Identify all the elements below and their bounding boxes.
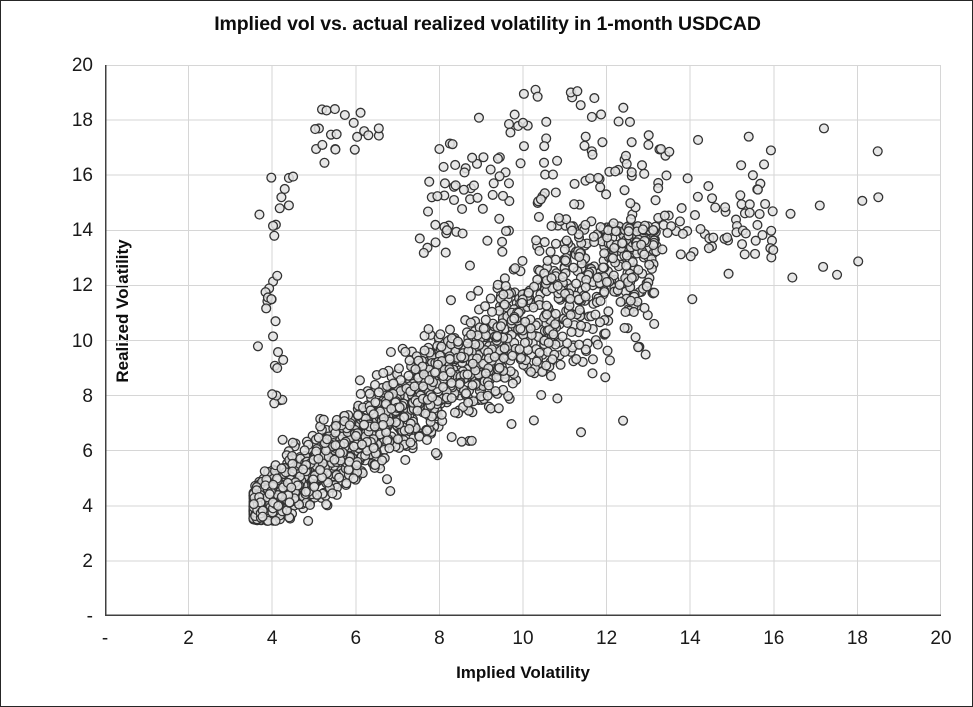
scatter-point (737, 200, 746, 209)
scatter-point (561, 256, 570, 265)
scatter-point (441, 179, 450, 188)
x-tick-label: 2 (159, 629, 219, 648)
scatter-point (704, 182, 713, 191)
scatter-point (488, 307, 497, 316)
scatter-point (597, 110, 606, 119)
scatter-point (616, 298, 625, 307)
scatter-point (549, 170, 558, 179)
scatter-point (556, 360, 565, 369)
scatter-point (488, 191, 497, 200)
scatter-point (431, 449, 440, 458)
scatter-point (741, 229, 750, 238)
scatter-point (815, 201, 824, 210)
scatter-point (644, 140, 653, 149)
scatter-point (431, 368, 440, 377)
scatter-point (603, 346, 612, 355)
scatter-point (854, 257, 863, 266)
scatter-point (751, 249, 760, 258)
scatter-point (619, 103, 628, 112)
scatter-point (457, 352, 466, 361)
scatter-point (435, 145, 444, 154)
scatter-point (249, 500, 258, 509)
scatter-point (547, 372, 556, 381)
scatter-point (425, 177, 434, 186)
scatter-point (299, 465, 308, 474)
scatter-point (459, 185, 468, 194)
scatter-point (448, 140, 457, 149)
scatter-point (723, 233, 732, 242)
scatter-point (626, 118, 635, 127)
scatter-point (511, 264, 520, 273)
scatter-point (711, 203, 720, 212)
scatter-point (767, 146, 776, 155)
scatter-point (349, 118, 358, 127)
scatter-point (352, 432, 361, 441)
scatter-point (543, 256, 552, 265)
scatter-point (424, 207, 433, 216)
scatter-point (515, 345, 524, 354)
scatter-point (637, 240, 646, 249)
scatter-point (490, 352, 499, 361)
scatter-point (622, 151, 631, 160)
scatter-point (262, 304, 271, 313)
scatter-point (436, 330, 445, 339)
scatter-point (401, 347, 410, 356)
y-tick-label: 12 (9, 276, 93, 295)
scatter-point (479, 324, 488, 333)
scatter-point (527, 368, 536, 377)
scatter-point (356, 390, 365, 399)
scatter-point (588, 369, 597, 378)
scatter-point (506, 128, 515, 137)
scatter-point (577, 321, 586, 330)
scatter-point (709, 233, 718, 242)
scatter-point (379, 369, 388, 378)
scatter-point (406, 438, 415, 447)
scatter-point (437, 410, 446, 419)
scatter-point (310, 482, 319, 491)
scatter-point (254, 342, 263, 351)
y-tick-label: - (9, 607, 93, 626)
scatter-point (642, 282, 651, 291)
scatter-point (345, 421, 354, 430)
scatter-point (694, 136, 703, 145)
scatter-point (437, 342, 446, 351)
scatter-point (278, 492, 287, 501)
scatter-point (314, 454, 323, 463)
scatter-point (588, 150, 597, 159)
scatter-point (400, 413, 409, 422)
scatter-point (318, 140, 327, 149)
scatter-point (255, 210, 264, 219)
scatter-point (365, 389, 374, 398)
scatter-point (267, 295, 276, 304)
y-tick-label: 2 (9, 552, 93, 571)
scatter-point (593, 340, 602, 349)
scatter-point (740, 250, 749, 259)
scatter-point (445, 355, 454, 364)
scatter-point (495, 172, 504, 181)
scatter-point (749, 171, 758, 180)
scatter-point (548, 355, 557, 364)
scatter-point (349, 474, 358, 483)
scatter-point (833, 270, 842, 279)
scatter-point (542, 301, 551, 310)
scatter-point (498, 237, 507, 246)
x-axis-title: Implied Volatility (105, 663, 941, 683)
scatter-point (508, 351, 517, 360)
scatter-point (352, 461, 361, 470)
scatter-point (499, 290, 508, 299)
scatter-point (662, 171, 671, 180)
scatter-point (428, 393, 437, 402)
scatter-point (745, 208, 754, 217)
scatter-point (560, 245, 569, 254)
scatter-point (494, 404, 503, 413)
scatter-point (460, 168, 469, 177)
scatter-point (598, 138, 607, 147)
scatter-point (621, 308, 630, 317)
scatter-point (755, 210, 764, 219)
scatter-point (549, 330, 558, 339)
scatter-point (562, 236, 571, 245)
scatter-point (610, 244, 619, 253)
scatter-point (553, 394, 562, 403)
scatter-point (510, 110, 519, 119)
scatter-point (520, 89, 529, 98)
scatter-point (640, 250, 649, 259)
scatter-point (586, 174, 595, 183)
scatter-point (269, 221, 278, 230)
chart-title: Implied vol vs. actual realized volatili… (1, 13, 973, 36)
scatter-point (328, 489, 337, 498)
scatter-point (268, 390, 277, 399)
scatter-point (499, 191, 508, 200)
scatter-point (288, 438, 297, 447)
scatter-point (524, 288, 533, 297)
scatter-point (555, 214, 564, 223)
scatter-point (274, 348, 283, 357)
scatter-point (640, 304, 649, 313)
scatter-point (466, 318, 475, 327)
scatter-point (508, 379, 517, 388)
scatter-point (332, 422, 341, 431)
scatter-point (499, 354, 508, 363)
scatter-point (596, 297, 605, 306)
scatter-point (260, 467, 269, 476)
scatter-point (553, 156, 562, 165)
scatter-point (611, 167, 620, 176)
scatter-point (518, 257, 527, 266)
scatter-point (620, 324, 629, 333)
scatter-point (638, 161, 647, 170)
scatter-point (387, 348, 396, 357)
scatter-point (462, 389, 471, 398)
scatter-points (105, 65, 941, 616)
scatter-point (433, 192, 442, 201)
scatter-point (657, 145, 666, 154)
scatter-point (389, 379, 398, 388)
scatter-point (431, 238, 440, 247)
scatter-point (492, 373, 501, 382)
scatter-point (738, 240, 747, 249)
scatter-point (411, 365, 420, 374)
scatter-point (609, 254, 618, 263)
y-tick-label: 20 (9, 56, 93, 75)
scatter-point (289, 172, 298, 181)
scatter-point (551, 188, 560, 197)
y-tick-label: 8 (9, 387, 93, 406)
scatter-point (644, 131, 653, 140)
scatter-point (446, 368, 455, 377)
scatter-point (634, 343, 643, 352)
scatter-point (405, 356, 414, 365)
scatter-point (665, 147, 674, 156)
scatter-point (269, 332, 278, 341)
scatter-point (721, 203, 730, 212)
scatter-point (581, 132, 590, 141)
scatter-point (544, 338, 553, 347)
scatter-point (285, 201, 294, 210)
scatter-point (819, 262, 828, 271)
scatter-point (640, 169, 649, 178)
scatter-point (395, 364, 404, 373)
scatter-point (575, 253, 584, 262)
scatter-point (768, 207, 777, 216)
x-tick-label: 14 (660, 629, 720, 648)
scatter-point (306, 501, 315, 510)
y-tick-label: 18 (9, 111, 93, 130)
scatter-point (415, 234, 424, 243)
scatter-point (724, 269, 733, 278)
scatter-point (546, 247, 555, 256)
scatter-point (404, 371, 413, 380)
plot-area (105, 65, 941, 616)
scatter-point (331, 145, 340, 154)
scatter-point (458, 205, 467, 214)
scatter-point (536, 195, 545, 204)
scatter-point (618, 239, 627, 248)
scatter-point (627, 138, 636, 147)
scatter-point (505, 179, 514, 188)
scatter-point (570, 179, 579, 188)
scatter-point (594, 174, 603, 183)
scatter-point (767, 226, 776, 235)
scatter-point (467, 330, 476, 339)
scatter-point (788, 273, 797, 282)
scatter-point (387, 404, 396, 413)
scatter-point (420, 346, 429, 355)
scatter-point (332, 130, 341, 139)
scatter-point (443, 226, 452, 235)
scatter-point (478, 204, 487, 213)
scatter-point (558, 332, 567, 341)
scatter-point (280, 185, 289, 194)
y-tick-label: 10 (9, 332, 93, 351)
scatter-point (378, 456, 387, 465)
scatter-point (540, 142, 549, 151)
y-tick-label: 6 (9, 442, 93, 461)
scatter-point (758, 231, 767, 240)
scatter-point (421, 409, 430, 418)
scatter-point (350, 145, 359, 154)
scatter-point (520, 142, 529, 151)
scatter-point (423, 426, 432, 435)
scatter-point (441, 248, 450, 257)
scatter-point (753, 185, 762, 194)
scatter-point (614, 117, 623, 126)
scatter-point (269, 480, 278, 489)
scatter-point (626, 296, 635, 305)
scatter-point (340, 439, 349, 448)
scatter-point (447, 433, 456, 442)
scatter-point (301, 487, 310, 496)
scatter-point (535, 247, 544, 256)
scatter-point (631, 333, 640, 342)
y-tick-label: 4 (9, 497, 93, 516)
scatter-point (575, 306, 584, 315)
scatter-point (451, 181, 460, 190)
scatter-point (567, 328, 576, 337)
scatter-point (575, 340, 584, 349)
scatter-point (473, 193, 482, 202)
scatter-point (319, 415, 328, 424)
scatter-point (495, 214, 504, 223)
scatter-point (486, 165, 495, 174)
scatter-point (601, 329, 610, 338)
scatter-point (316, 466, 325, 475)
scatter-point (395, 403, 404, 412)
scatter-point (627, 215, 636, 224)
scatter-point (354, 411, 363, 420)
scatter-point (393, 435, 402, 444)
scatter-point (753, 221, 762, 230)
scatter-point (386, 487, 395, 496)
scatter-point (500, 300, 509, 309)
scatter-point (566, 294, 575, 303)
scatter-point (572, 355, 581, 364)
scatter-point (277, 193, 286, 202)
scatter-point (622, 160, 631, 169)
scatter-point (335, 473, 344, 482)
scatter-point (547, 222, 556, 231)
scatter-point (649, 226, 658, 235)
scatter-point (466, 261, 475, 270)
scatter-point (683, 174, 692, 183)
scatter-point (593, 273, 602, 282)
scatter-point (677, 204, 686, 213)
scatter-point (484, 381, 493, 390)
scatter-point (620, 186, 629, 195)
scatter-point (273, 271, 282, 280)
scatter-point (532, 236, 541, 245)
scatter-point (350, 442, 359, 451)
scatter-point (447, 379, 456, 388)
scatter-point (277, 464, 286, 473)
x-tick-label: 10 (493, 629, 553, 648)
scatter-point (405, 425, 414, 434)
scatter-point (358, 440, 367, 449)
scatter-point (820, 124, 829, 133)
scatter-point (874, 193, 883, 202)
scatter-point (581, 292, 590, 301)
scatter-point (447, 394, 456, 403)
x-tick-label: 20 (911, 629, 971, 648)
y-axis-tick-labels: -2468101214161820 (1, 1, 93, 707)
scatter-point (737, 161, 746, 170)
scatter-point (619, 416, 628, 425)
scatter-point (481, 369, 490, 378)
scatter-point (457, 437, 466, 446)
scatter-point (493, 332, 502, 341)
scatter-point (486, 294, 495, 303)
scatter-point (468, 381, 477, 390)
scatter-point (455, 380, 464, 389)
scatter-point (604, 307, 613, 316)
scatter-point (419, 248, 428, 257)
scatter-point (708, 194, 717, 203)
scatter-point (271, 516, 280, 525)
scatter-point (369, 410, 378, 419)
scatter-point (410, 382, 419, 391)
scatter-point (537, 391, 546, 400)
scatter-point (547, 274, 556, 283)
scatter-point (446, 325, 455, 334)
scatter-point (450, 196, 459, 205)
scatter-point (736, 191, 745, 200)
scatter-point (275, 204, 284, 213)
scatter-point (577, 428, 586, 437)
scatter-point (581, 220, 590, 229)
scatter-point (507, 420, 516, 429)
scatter-point (654, 184, 663, 193)
x-tick-label: 18 (827, 629, 887, 648)
scatter-point (464, 398, 473, 407)
scatter-point (590, 94, 599, 103)
scatter-point (364, 131, 373, 140)
scatter-point (760, 160, 769, 169)
scatter-point (761, 200, 770, 209)
scatter-point (370, 422, 379, 431)
scatter-point (686, 252, 695, 261)
scatter-point (383, 475, 392, 484)
scatter-point (401, 456, 410, 465)
scatter-point (369, 444, 378, 453)
scatter-point (769, 246, 778, 255)
scatter-point (360, 420, 369, 429)
scatter-point (704, 244, 713, 253)
scatter-point (589, 355, 598, 364)
y-tick-label: 14 (9, 221, 93, 240)
scatter-point (601, 373, 610, 382)
scatter-point (540, 158, 549, 167)
scatter-point (873, 147, 882, 156)
scatter-point (622, 261, 631, 270)
scatter-point (498, 247, 507, 256)
scatter-point (589, 232, 598, 241)
scatter-point (609, 219, 618, 228)
scatter-point (481, 315, 490, 324)
scatter-point (634, 266, 643, 275)
scatter-point (535, 348, 544, 357)
scatter-point (516, 159, 525, 168)
scatter-point (502, 227, 511, 236)
scatter-point (311, 125, 320, 134)
x-axis-tick-labels: -2468101214161820 (1, 629, 973, 659)
scatter-point (696, 225, 705, 234)
scatter-point (624, 227, 633, 236)
scatter-point (336, 449, 345, 458)
